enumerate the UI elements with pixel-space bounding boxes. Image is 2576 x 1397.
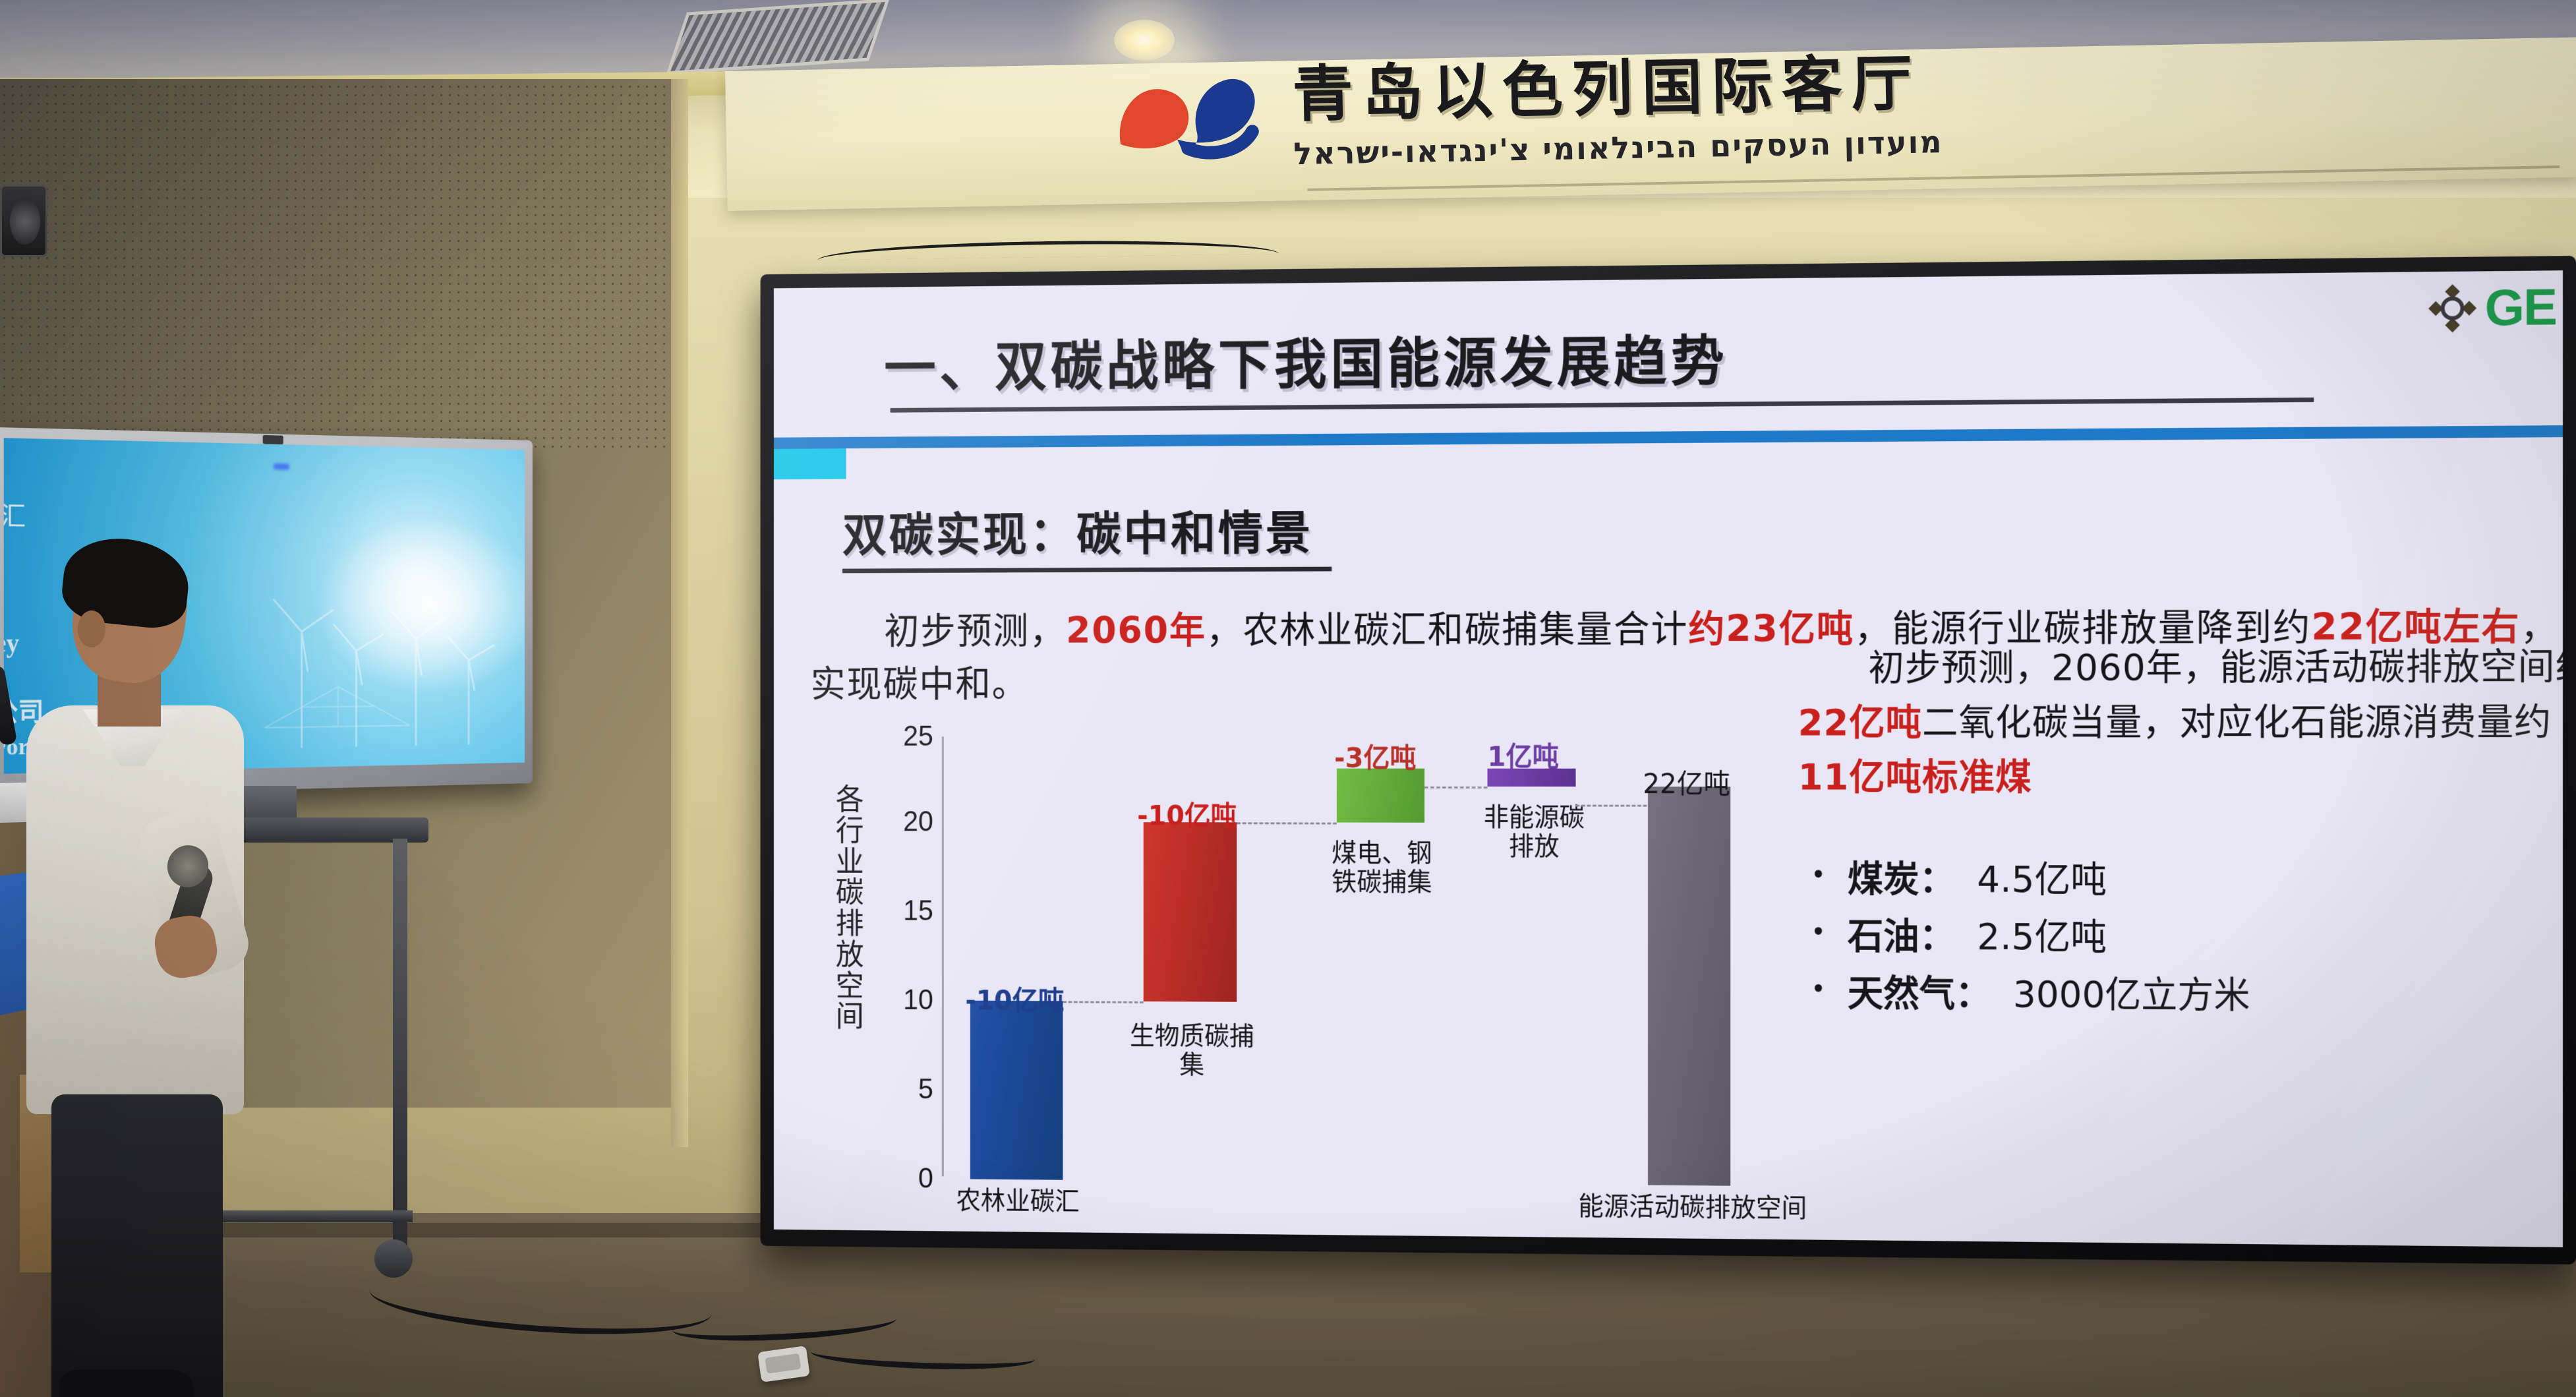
bar-category-label-biomass-carbon-capture: 生物质碳捕集 (1130, 1022, 1254, 1080)
bullet-dot-icon: • (1811, 912, 1826, 951)
ytick-20: 20 (903, 806, 933, 838)
list-item: • 天然气： 3000亿立方米 (1811, 970, 2563, 1022)
accent-band-cyan (774, 448, 846, 479)
list-item: • 煤炭： 4.5亿吨 (1811, 856, 2563, 906)
bullet-key: 煤炭： (1848, 856, 1955, 904)
bullet-dot-icon: • (1811, 856, 1826, 895)
presenter-legs (51, 1094, 223, 1397)
bar-category-label-non-energy-emission: 非能源碳排放 (1477, 804, 1591, 862)
presenter (26, 547, 244, 1397)
bar-value-label-non-energy-emission: 1亿吨 (1487, 735, 1558, 775)
ytick-25: 25 (903, 721, 933, 752)
paragraph-seg-2: ，农林业碳汇和碳捕集量合计 (1206, 608, 1689, 651)
bullet-value: 2.5亿吨 (1977, 913, 2107, 962)
side-monitor-text-b: ey (4, 628, 19, 659)
right-paragraph-highlight-11: 11亿吨标准煤 (1798, 756, 2032, 798)
bar-agriculture-forestry (970, 1001, 1063, 1180)
chart-plot-area: -10亿吨 农林业碳汇 -10亿吨 生物质碳捕集 -3亿吨 煤电、钢铁碳捕集 (945, 732, 1759, 1186)
bar-category-label-agriculture-forestry: 农林业碳汇 (941, 1187, 1095, 1217)
slide-title: 一、双碳战略下我国能源发展趋势 (884, 318, 1728, 403)
diamond-logo-icon (2428, 283, 2477, 332)
bar-energy-activity-emission-space (1648, 787, 1730, 1185)
bar-biomass-carbon-capture (1144, 822, 1237, 1002)
connector-dash-1 (1063, 1001, 1143, 1003)
slide-subheading: 双碳实现：碳中和情景 (842, 495, 1313, 564)
acoustic-panel (0, 82, 682, 452)
connector-dash-2 (1237, 822, 1337, 824)
ytick-10: 10 (903, 984, 933, 1017)
bullet-key: 石油： (1848, 912, 1955, 961)
screen-surface: GE 一、双碳战略下我国能源发展趋势 双碳实现：碳中和情景 初步预测，2060年… (774, 270, 2563, 1247)
ytick-5: 5 (918, 1073, 933, 1105)
conference-room-photo: 青岛以色列国际客厅 מועדון העסקים הבינלאומי צ'ינגד… (0, 0, 2576, 1397)
bullet-key: 天然气： (1848, 970, 1991, 1019)
presenter-ear (78, 610, 105, 647)
screen-bezel: GE 一、双碳战略下我国能源发展趋势 双碳实现：碳中和情景 初步预测，2060年… (761, 256, 2576, 1264)
banner-subtitle-hebrew: מועדון העסקים הבינלאומי צ'ינגדאו-ישראל (1293, 124, 1943, 171)
bar-category-label-coal-steel-carbon-capture: 煤电、钢铁碳捕集 (1326, 839, 1438, 897)
waterfall-chart: 各行业碳排放空间 0 5 10 15 20 25 (829, 732, 1767, 1238)
accent-band-blue (774, 425, 2563, 449)
connector-dash-4 (1576, 805, 1658, 807)
slide: GE 一、双碳战略下我国能源发展趋势 双碳实现：碳中和情景 初步预测，2060年… (774, 270, 2563, 1247)
chart-y-axis-title: 各行业碳排放空间 (833, 784, 867, 1032)
bullet-value: 4.5亿吨 (1977, 856, 2107, 905)
status-led-icon (274, 463, 289, 470)
list-item: • 石油： 2.5亿吨 (1811, 912, 2563, 964)
wall-speaker (0, 185, 47, 257)
wall-edge-trim (671, 79, 688, 1147)
slide-logo-text: GE (2485, 277, 2556, 338)
cart-leg (393, 839, 407, 1247)
banner-title: 青岛以色列国际客厅 (1292, 53, 1943, 125)
screen-hotspot-glare (315, 516, 525, 696)
bar-value-label-biomass-carbon-capture: -10亿吨 (1137, 794, 1237, 833)
right-paragraph-seg-1: 初步预测，2060年，能源活动碳排放空间约 (1868, 645, 2563, 690)
slide-corporate-logo: GE (2428, 277, 2556, 338)
ytick-0: 0 (918, 1163, 933, 1195)
paragraph-highlight-year: 2060年 (1066, 610, 1206, 653)
bullet-value: 3000亿立方米 (2013, 970, 2250, 1020)
slide-bullet-list: • 煤炭： 4.5亿吨 • 石油： 2.5亿吨 • 天然气： 3000亿 (1811, 856, 2563, 1031)
chart-y-axis-line (942, 736, 944, 1176)
presentation-screen: GE 一、双碳战略下我国能源发展趋势 双碳实现：碳中和情景 初步预测，2060年… (761, 256, 2576, 1264)
qingdao-israel-logo-icon (1107, 68, 1274, 170)
subheading-underline (842, 567, 1332, 574)
webcam-icon (263, 435, 283, 444)
bar-value-label-agriculture-forestry: -10亿吨 (965, 979, 1064, 1019)
right-paragraph-seg-2: 二氧化碳当量，对应化石能源消费量约 (1922, 701, 2552, 744)
ytick-15: 15 (903, 895, 933, 927)
bar-category-label-energy-activity-emission-space: 能源活动碳排放空间 (1572, 1192, 1813, 1223)
bar-value-label-coal-steel-carbon-capture: -3亿吨 (1334, 736, 1416, 776)
ceiling-light (1114, 20, 1175, 61)
right-paragraph-highlight-22: 22亿吨 (1798, 701, 1922, 744)
bar-value-label-energy-activity-emission-space: 22亿吨 (1643, 762, 1730, 802)
side-monitor-text-a: 汇 (4, 494, 26, 533)
chart-y-axis-ticks: 0 5 10 15 20 25 (878, 732, 933, 1179)
presenter-shoe (59, 1370, 194, 1397)
connector-dash-3 (1424, 787, 1487, 788)
bar-coal-steel-carbon-capture (1337, 769, 1424, 823)
bullet-dot-icon: • (1811, 970, 1826, 1009)
paragraph-seg-1: 初步预测， (884, 610, 1066, 653)
slide-right-paragraph: 初步预测，2060年，能源活动碳排放空间约22亿吨二氧化碳当量，对应化石能源消费… (1798, 639, 2563, 806)
